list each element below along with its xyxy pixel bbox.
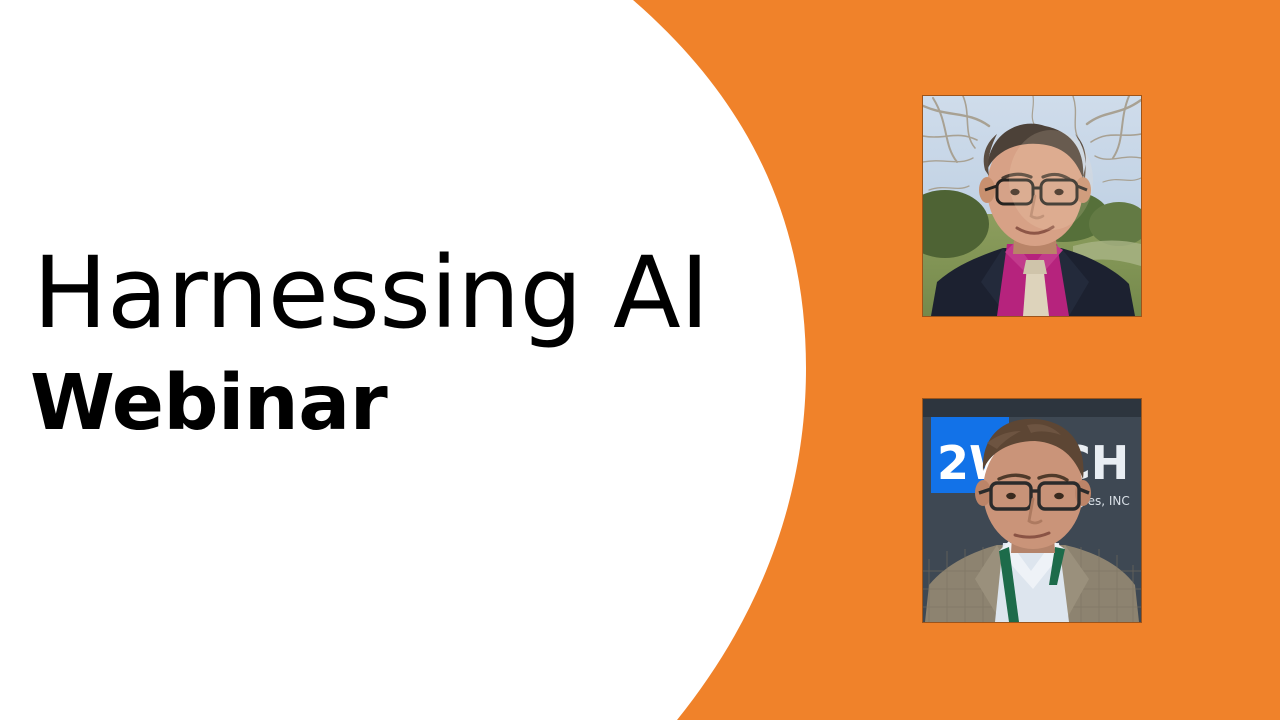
speaker-photo-2: 2W CH nologies, INC [923, 399, 1141, 622]
speaker-1-image-content [923, 96, 1141, 316]
sunlight-highlight [1009, 130, 1093, 230]
title-block: Harnessing AI Webinar [33, 244, 753, 442]
slide-canvas: Harnessing AI Webinar [0, 0, 1280, 720]
banner-top-shadow [923, 399, 1141, 417]
tie-knot [1023, 260, 1047, 274]
page-title: Harnessing AI [33, 244, 753, 343]
speaker-photo-1 [923, 96, 1141, 316]
eye-right [1054, 493, 1064, 499]
eye-left [1006, 493, 1016, 499]
page-subtitle: Webinar [30, 365, 753, 442]
speaker-2-image-content: 2W CH nologies, INC [923, 399, 1141, 622]
